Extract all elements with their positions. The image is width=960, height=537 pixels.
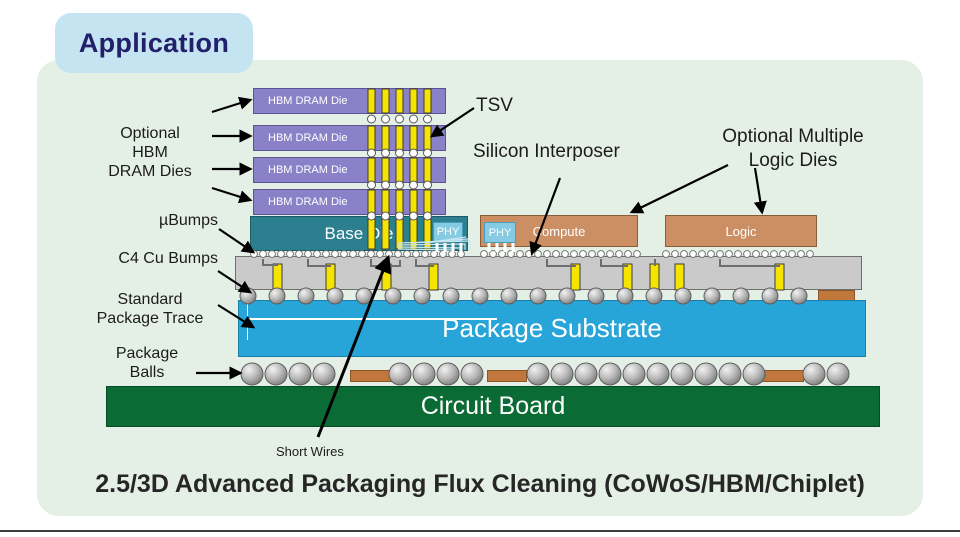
arrow-c4: [218, 271, 250, 292]
interposer-rdl: [263, 259, 780, 266]
callout-optional-logic-line1: Optional Multiple: [700, 125, 886, 149]
bottom-divider: [0, 530, 960, 532]
tsv-columns: [368, 89, 432, 249]
callout-optional-logic-dies: Optional Multiple Logic Dies: [700, 125, 886, 173]
arrow-hbm-1: [212, 100, 250, 112]
callout-std-trace-line2: Package Trace: [84, 309, 216, 328]
callout-optional-hbm: Optional HBM DRAM Dies: [86, 124, 214, 181]
callout-pkg-balls-line1: Package: [102, 344, 192, 363]
callout-std-trace-line1: Standard: [84, 290, 216, 309]
package-ball-row: [241, 363, 849, 385]
callout-optional-hbm-line2: HBM: [86, 143, 214, 162]
callout-package-balls: Package Balls: [102, 344, 192, 382]
arrow-tsv: [432, 108, 474, 136]
arrow-logic-2: [755, 168, 762, 212]
callout-tsv: TSV: [476, 96, 513, 115]
callout-optional-logic-line2: Logic Dies: [700, 149, 886, 173]
callout-silicon-interposer: Silicon Interposer: [473, 142, 620, 161]
callout-optional-hbm-line3: DRAM Dies: [86, 162, 214, 181]
callout-standard-package-trace: Standard Package Trace: [84, 290, 216, 328]
interposer-tsv: [273, 264, 784, 290]
arrow-std-trace: [218, 305, 253, 327]
packaging-diagram: HBM DRAM Die HBM DRAM Die HBM DRAM Die H…: [0, 0, 960, 537]
callout-c4-cu-bumps: C4 Cu Bumps: [70, 249, 218, 268]
c4-bump-row: [240, 288, 807, 304]
arrow-hbm-4: [212, 188, 250, 200]
callout-pkg-balls-line2: Balls: [102, 363, 192, 382]
phy-short-wires: [398, 237, 470, 251]
callout-ubumps: µBumps: [90, 211, 218, 230]
diagram-overlay: [0, 0, 960, 537]
diagram-caption: 2.5/3D Advanced Packaging Flux Cleaning …: [0, 470, 960, 499]
arrow-interposer: [532, 178, 560, 253]
arrow-ubumps: [219, 229, 253, 252]
callout-short-wires: Short Wires: [276, 442, 344, 461]
callout-optional-hbm-line1: Optional: [86, 124, 214, 143]
